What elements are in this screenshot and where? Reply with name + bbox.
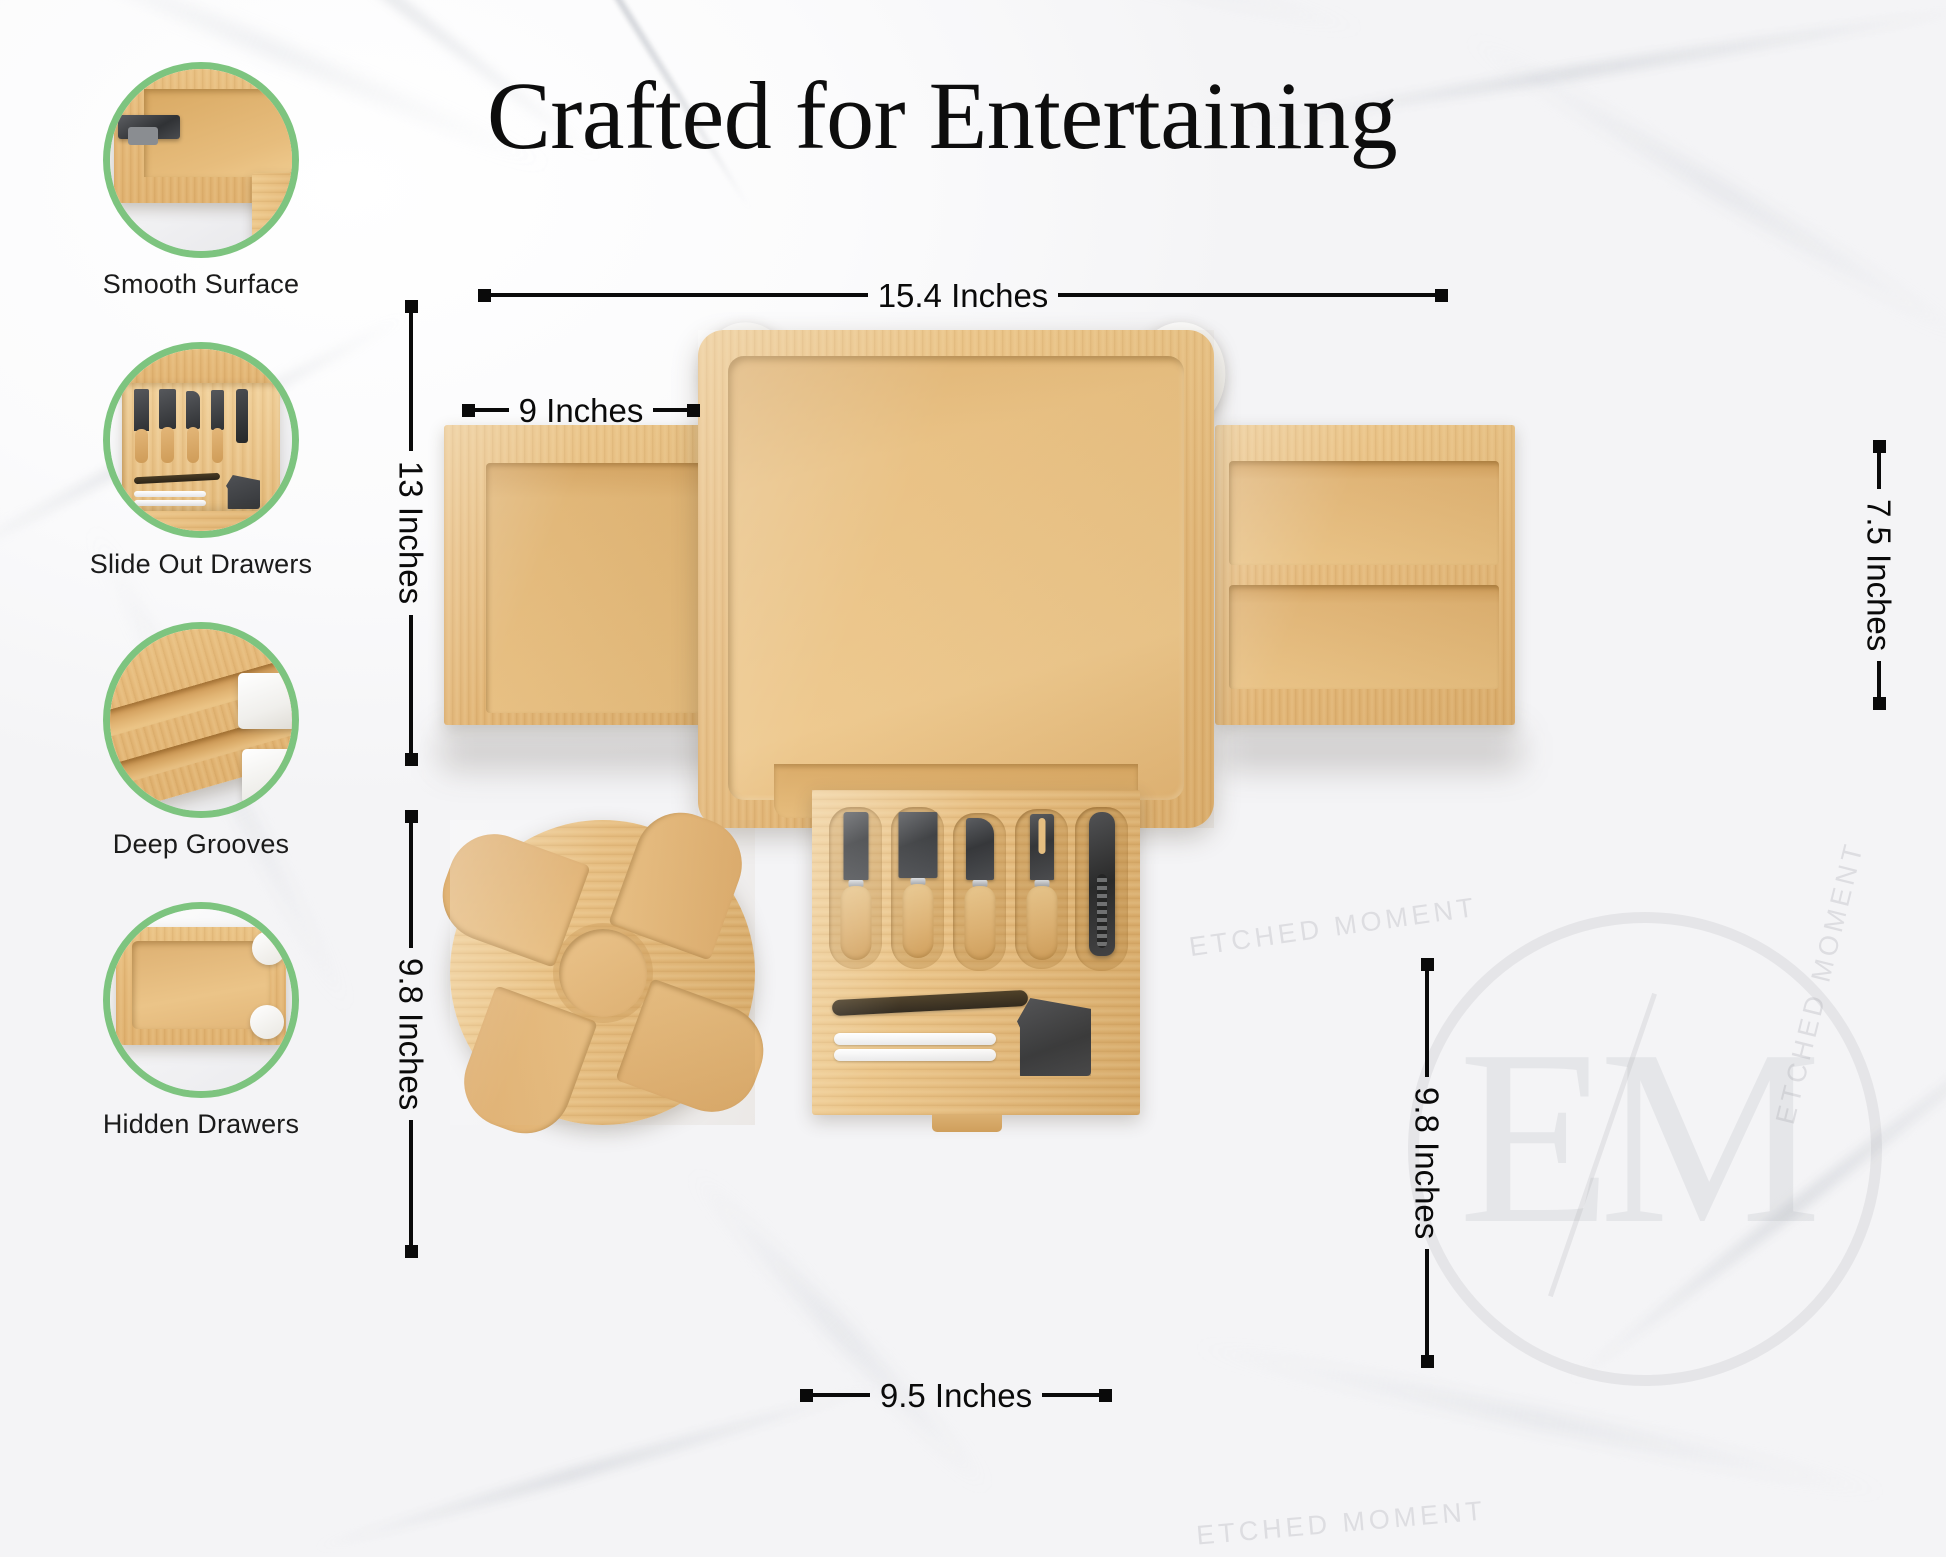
chalk-stick (834, 1049, 996, 1061)
feature-label: Smooth Surface (62, 269, 340, 300)
corkscrew-wine-opener (1080, 812, 1123, 964)
cheese-cleaver (896, 812, 939, 962)
dimension-value: 9.8 Inches (395, 948, 428, 1120)
page-title: Crafted for Entertaining (372, 68, 1512, 164)
open-drawer-tools-icon (110, 349, 292, 531)
dimension-endpoint (800, 1389, 813, 1402)
tool-handle (840, 886, 871, 960)
feature-item-deep-grooves: Deep Grooves (62, 622, 340, 860)
fork-tine-gap (1038, 818, 1045, 854)
chalk-sticks (834, 1033, 996, 1063)
drawer-well-lower (1229, 585, 1499, 689)
dimension-value: 13 Inches (395, 451, 428, 614)
center-compartment (559, 929, 647, 1017)
dimension-endpoint (1873, 440, 1886, 453)
tool-blade (898, 812, 937, 878)
dimension-value: 9.8 Inches (1411, 1077, 1444, 1249)
feature-thumbnail-slide-out-drawers (103, 342, 299, 538)
dimension-rule (409, 1120, 413, 1245)
board-shadow (1220, 730, 1520, 770)
dimension-value: 15.4 Inches (868, 279, 1059, 312)
slate-cheese-label (1017, 998, 1091, 1076)
juice-groove (728, 356, 1184, 800)
dimension-rule (1877, 661, 1881, 697)
feature-thumbnail-hidden-drawers (103, 902, 299, 1098)
dimension-rule (409, 615, 413, 753)
drawer-well-upper (1229, 461, 1499, 565)
dimension-endpoint (405, 753, 418, 766)
dimension-rule (1042, 1393, 1099, 1397)
dimension-rule (409, 313, 413, 451)
left-slide-out-drawer (444, 425, 724, 725)
round-serving-board (450, 820, 755, 1125)
dimension-value: 7.5 Inches (1863, 489, 1896, 661)
main-cutting-board (698, 330, 1214, 828)
drawer-pull-tab (932, 1114, 1002, 1132)
dimension-rule (1425, 1249, 1429, 1355)
dimension-endpoint (462, 404, 475, 417)
dimension-endpoint (405, 300, 418, 313)
dimension-round-board-diameter: 9.8 Inches (394, 810, 428, 1258)
dimension-utensil-drawer-depth: 9.8 Inches (1410, 958, 1444, 1368)
feature-item-smooth-surface: Smooth Surface (62, 62, 340, 300)
corkscrew-helix (1097, 874, 1107, 948)
grooved-edge-icon (110, 629, 292, 811)
dimension-rule (653, 408, 687, 412)
infographic-canvas: Crafted for Entertaining Smooth Surface (0, 0, 1946, 1557)
feature-label: Slide Out Drawers (62, 549, 340, 580)
product-photo (420, 300, 1550, 1440)
dimension-overall-depth: 13 Inches (394, 300, 428, 766)
dimension-rule (475, 408, 509, 412)
cheese-knife-soft (958, 818, 1001, 964)
closed-board-bowls-icon (110, 909, 292, 1091)
dimension-endpoint (1421, 1355, 1434, 1368)
chalk-stick (834, 1033, 996, 1045)
dimension-rule (409, 823, 413, 948)
dimension-endpoint (1873, 697, 1886, 710)
drawer-well (486, 463, 714, 713)
dimension-rule (1058, 293, 1435, 297)
dimension-rule (1877, 453, 1881, 489)
feature-thumbnail-smooth-surface (103, 62, 299, 258)
serving-compartment (451, 985, 598, 1146)
dimension-endpoint (1421, 958, 1434, 971)
right-slide-out-drawer (1215, 425, 1515, 725)
feature-item-hidden-drawers: Hidden Drawers (62, 902, 340, 1140)
dimension-value: 9 Inches (509, 394, 654, 427)
dimension-overall-width: 15.4 Inches (478, 278, 1448, 312)
dimension-endpoint (478, 289, 491, 302)
tool-handle (1026, 886, 1057, 960)
tool-blade (966, 818, 994, 880)
feature-label: Hidden Drawers (62, 1109, 340, 1140)
utensil-drawer (812, 790, 1140, 1115)
dimension-endpoint (1435, 289, 1448, 302)
dimension-value: 9.5 Inches (870, 1379, 1042, 1412)
serving-compartment (615, 978, 776, 1125)
serving-compartment (429, 821, 590, 968)
dimension-endpoint (687, 404, 700, 417)
tool-handle (902, 884, 933, 958)
chalk-marker (832, 990, 1029, 1016)
feature-item-slide-out-drawers: Slide Out Drawers (62, 342, 340, 580)
dimension-rule (491, 293, 868, 297)
tool-handle (964, 886, 995, 960)
dimension-left-drawer-width: 9 Inches (462, 393, 700, 427)
dimension-endpoint (405, 810, 418, 823)
feature-label: Deep Grooves (62, 829, 340, 860)
dimension-utensil-drawer-width: 9.5 Inches (800, 1378, 1112, 1412)
dimension-endpoint (405, 1245, 418, 1258)
dimension-rule (813, 1393, 870, 1397)
cheese-knife-hard (834, 812, 877, 962)
board-shadow (440, 730, 740, 770)
board-corner-icon (110, 69, 292, 251)
cheese-fork (1020, 814, 1063, 962)
dimension-rule (1425, 971, 1429, 1077)
dimension-side-drawer-depth: 7.5 Inches (1862, 440, 1896, 710)
feature-thumbnail-deep-grooves (103, 622, 299, 818)
dimension-endpoint (1099, 1389, 1112, 1402)
tool-blade (843, 812, 868, 880)
